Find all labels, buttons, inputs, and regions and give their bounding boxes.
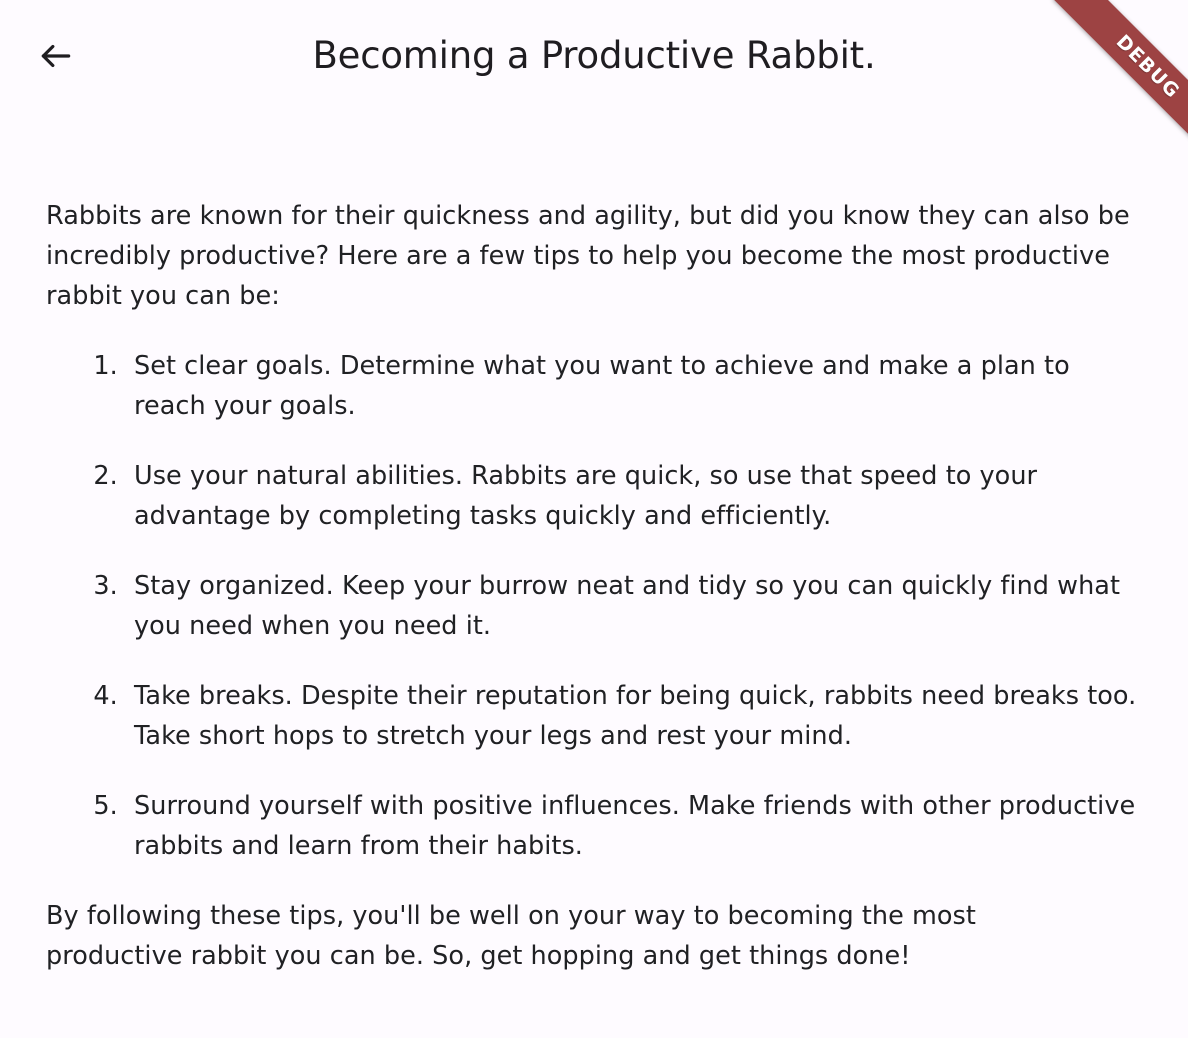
list-item: Take breaks. Despite their reputation fo… [126, 676, 1142, 756]
arrow-left-icon [37, 37, 75, 75]
list-item: Surround yourself with positive influenc… [126, 786, 1142, 866]
article-content: Rabbits are known for their quickness an… [0, 112, 1188, 976]
list-item: Use your natural abilities. Rabbits are … [126, 456, 1142, 536]
app-bar: Becoming a Productive Rabbit. [0, 0, 1188, 112]
list-item: Set clear goals. Determine what you want… [126, 346, 1142, 426]
page-title: Becoming a Productive Rabbit. [0, 36, 1188, 77]
intro-paragraph: Rabbits are known for their quickness an… [46, 196, 1142, 316]
tips-list: Set clear goals. Determine what you want… [46, 346, 1142, 866]
back-button[interactable] [28, 28, 84, 84]
outro-paragraph: By following these tips, you'll be well … [46, 896, 1142, 976]
list-item: Stay organized. Keep your burrow neat an… [126, 566, 1142, 646]
